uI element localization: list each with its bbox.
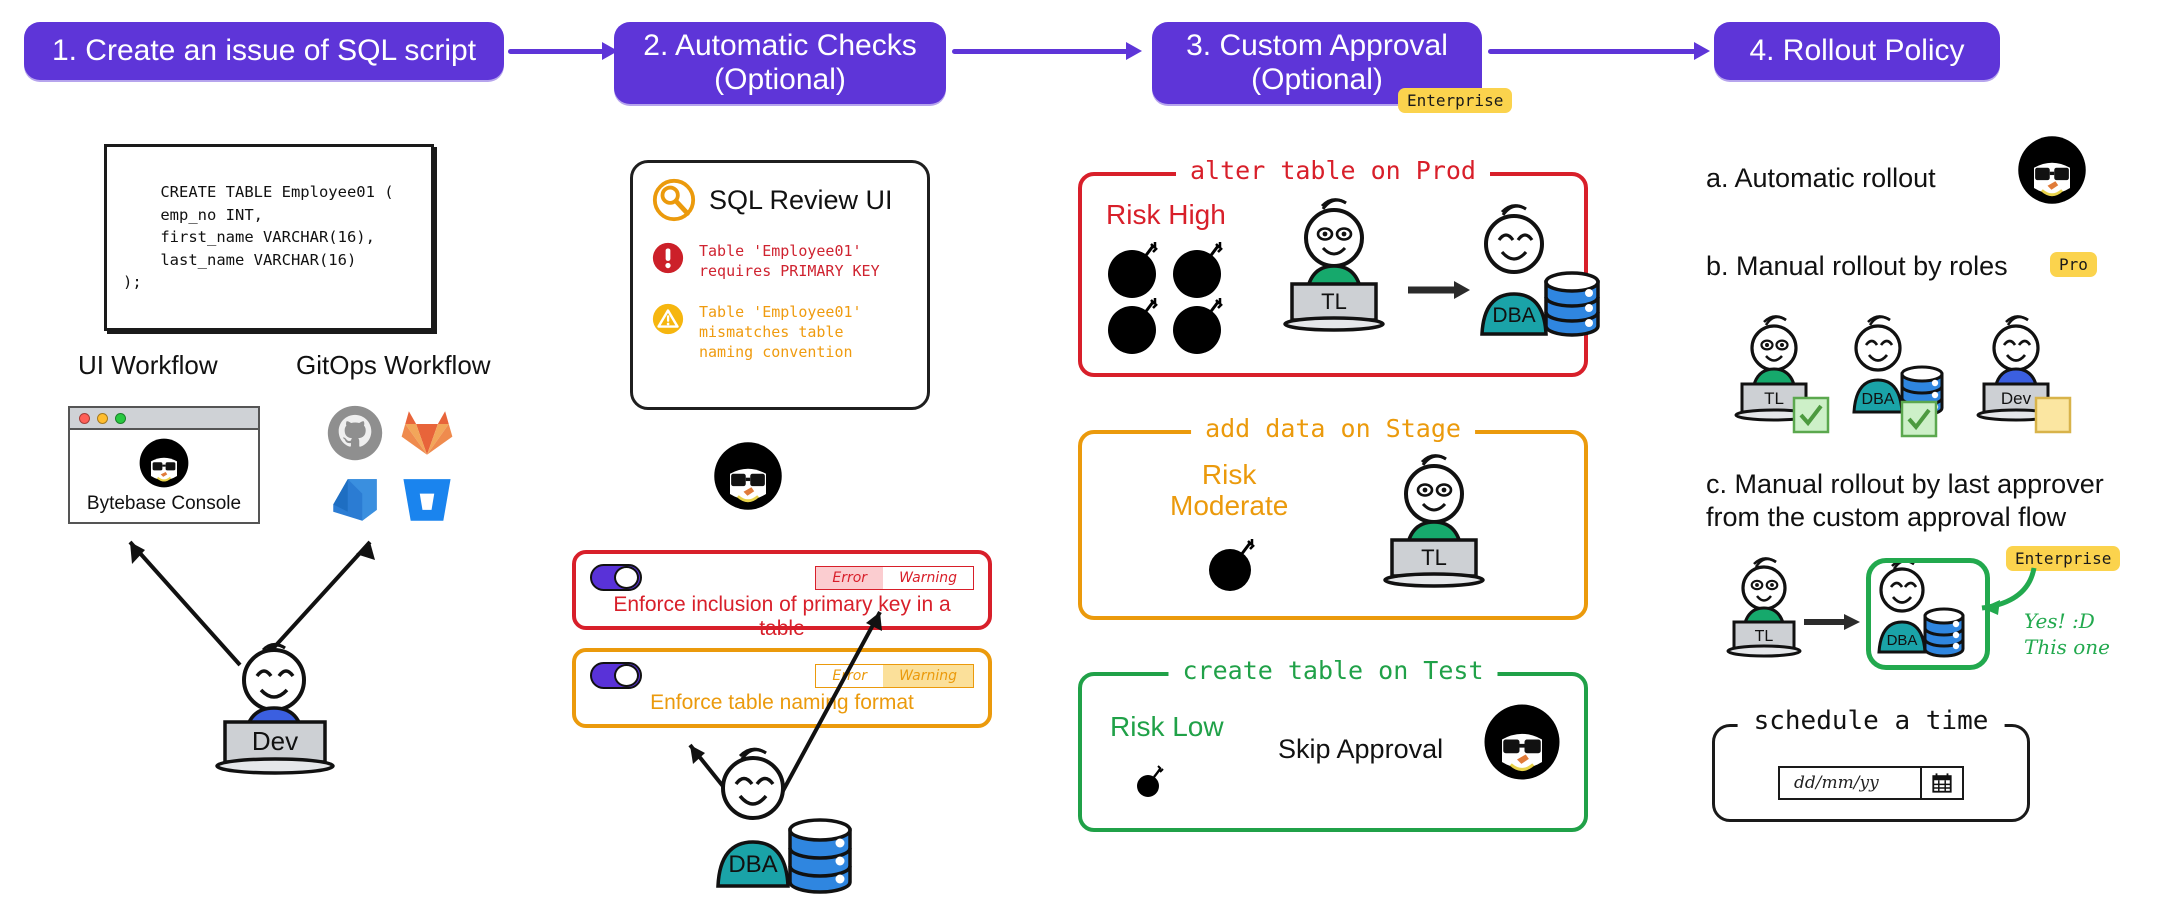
step-3-label-line1: 3. Custom Approval <box>1186 29 1448 64</box>
role-dev: Dev <box>1978 316 2070 432</box>
severity-option-error[interactable]: Error <box>816 567 883 589</box>
flow-role-tl: TL <box>1728 558 1800 656</box>
rollout-option-c: c. Manual rollout by last approver from … <box>1706 468 2104 534</box>
bytebase-avatar-icon <box>1482 702 1562 782</box>
person-dba-figure: DBA <box>700 740 880 910</box>
rule-card-controls: Error Warning <box>590 564 974 591</box>
github-icon[interactable] <box>326 404 384 462</box>
gitops-workflow-text: GitOps Workflow <box>296 350 491 380</box>
svg-text:TL: TL <box>1764 389 1784 408</box>
step-3-label-line2: (Optional) <box>1251 63 1383 98</box>
step-3-badge-label: Enterprise <box>1407 91 1503 110</box>
azure-devops-icon[interactable] <box>326 470 384 528</box>
rule-toggle-table-naming[interactable] <box>590 662 642 689</box>
sql-review-magnifier-icon <box>651 177 697 223</box>
bytebase-avatar-col2 <box>712 440 784 512</box>
bytebase-avatar-col4 <box>2016 134 2088 206</box>
arrow-shaft <box>1488 49 1696 54</box>
arrow-step2-to-step3 <box>952 42 1142 60</box>
step-2-label-line2: (Optional) <box>714 63 846 98</box>
step-4-pill[interactable]: 4. Rollout Policy <box>1714 22 2000 80</box>
risk-label-prod: Risk High <box>1106 200 1226 231</box>
svg-text:TL: TL <box>1755 628 1774 645</box>
role-tl: TL <box>1736 316 1828 432</box>
step-2-pill[interactable]: 2. Automatic Checks (Optional) <box>614 22 946 104</box>
schedule-date-input[interactable]: dd/mm/yy <box>1778 766 1964 800</box>
approval-group-prod-title: alter table on Prod <box>1176 156 1490 185</box>
approver-tl-prod: TL <box>1278 194 1408 344</box>
window-titlebar <box>70 408 258 430</box>
window-body: Bytebase Console <box>70 430 258 522</box>
callout-note: Yes! :D This one <box>2024 608 2110 660</box>
review-message-error: Table 'Employee01' requires PRIMARY KEY <box>651 241 909 282</box>
bombs-high-icon <box>1102 244 1232 354</box>
sql-script-text: CREATE TABLE Employee01 ( emp_no INT, fi… <box>123 183 394 291</box>
approver-tl-stage: TL <box>1378 450 1508 600</box>
error-message-text: Table 'Employee01' requires PRIMARY KEY <box>699 241 880 282</box>
ui-workflow-label: UI Workflow <box>78 350 218 381</box>
flow-arrow-head <box>1844 614 1860 630</box>
approver-dba-prod: DBA <box>1468 200 1618 345</box>
bomb-low-icon <box>1134 764 1170 798</box>
arrow-shaft <box>508 49 604 54</box>
toggle-knob <box>614 664 639 687</box>
step-1-pill[interactable]: 1. Create an issue of SQL script <box>24 22 504 80</box>
risk-label-stage: Risk Moderate <box>1170 460 1288 522</box>
svg-text:Dev: Dev <box>2001 389 2032 408</box>
person-dev-figure: Dev <box>205 640 355 782</box>
console-caption: Bytebase Console <box>87 493 241 515</box>
toggle-knob <box>614 566 639 589</box>
arrow-head <box>1694 42 1710 60</box>
gitlab-icon[interactable] <box>398 404 456 462</box>
bytebase-avatar-icon <box>138 437 190 489</box>
person-dba-col2: DBA <box>700 740 880 910</box>
risk-label-line1: Risk <box>1170 460 1288 491</box>
role-dba: DBA <box>1854 316 1942 436</box>
arrow-shaft <box>952 49 1128 54</box>
bomb-moderate-icon <box>1206 538 1264 594</box>
svg-text:DBA: DBA <box>1862 391 1895 408</box>
severity-segmented-control-primary-key[interactable]: Error Warning <box>815 566 974 590</box>
rollout-option-b-pro-badge: Pro <box>2050 252 2097 277</box>
close-dot-icon[interactable] <box>79 413 90 424</box>
bytebase-avatar-icon <box>712 440 784 512</box>
calendar-icon <box>1931 772 1953 794</box>
step-3-enterprise-badge: Enterprise <box>1398 88 1512 113</box>
approval-group-test: create table on Test Risk Low Skip Appro… <box>1078 672 1588 832</box>
pro-badge-label: Pro <box>2059 255 2088 274</box>
pending-box-icon <box>2036 398 2070 432</box>
approval-arrow-tl-to-dba <box>1408 278 1472 302</box>
database-icon <box>790 820 850 892</box>
skip-approval-label: Skip Approval <box>1278 734 1443 765</box>
person-dev: Dev <box>205 640 355 782</box>
error-icon <box>651 241 685 275</box>
database-icon <box>1546 273 1598 335</box>
calendar-button[interactable] <box>1920 768 1962 798</box>
risk-label-test: Risk Low <box>1110 712 1224 743</box>
diagram-canvas: 1. Create an issue of SQL script 2. Auto… <box>0 0 2168 922</box>
review-message-warning: Table 'Employee01' mismatches table nami… <box>651 302 909 363</box>
rollout-option-c-line1: c. Manual rollout by last approver <box>1706 468 2104 501</box>
bytebase-avatar-icon <box>2016 134 2088 206</box>
gitops-workflow-label: GitOps Workflow <box>296 350 491 381</box>
warning-icon <box>651 302 685 336</box>
approval-group-prod: alter table on Prod Risk High <box>1078 172 1588 377</box>
person-dba-label: DBA <box>728 851 777 878</box>
bytebase-avatar-col3 <box>1482 702 1562 782</box>
maximize-dot-icon[interactable] <box>115 413 126 424</box>
sql-review-card: SQL Review UI Table 'Employee01' require… <box>630 160 930 410</box>
step-2-label-line1: 2. Automatic Checks <box>643 29 916 64</box>
approval-group-stage-title: add data on Stage <box>1191 414 1475 443</box>
minimize-dot-icon[interactable] <box>97 413 108 424</box>
approval-group-stage: add data on Stage Risk Moderate TL <box>1078 430 1588 620</box>
rule-toggle-primary-key[interactable] <box>590 564 642 591</box>
approval-group-test-title: create table on Test <box>1168 656 1497 685</box>
bytebase-console-window[interactable]: Bytebase Console <box>68 406 260 524</box>
sql-review-title: SQL Review UI <box>709 185 893 216</box>
last-approver-highlight-box <box>1866 558 1990 670</box>
arrow-step3-to-step4 <box>1488 42 1710 60</box>
schedule-panel-title: schedule a time <box>1738 706 2005 736</box>
rollout-option-b: b. Manual rollout by roles <box>1706 250 2008 283</box>
risk-label-line2: Moderate <box>1170 491 1288 522</box>
sql-script-card: CREATE TABLE Employee01 ( emp_no INT, fi… <box>104 144 434 331</box>
approver-role-label: DBA <box>1492 304 1535 327</box>
step-4-label: 4. Rollout Policy <box>1749 34 1964 69</box>
step-1-label: 1. Create an issue of SQL script <box>52 34 476 69</box>
arrow-head <box>1126 42 1142 60</box>
warning-message-text: Table 'Employee01' mismatches table nami… <box>699 302 862 363</box>
rollout-roles-row: TL DBA <box>1706 312 2146 452</box>
approver-role-label: TL <box>1421 545 1447 570</box>
rollout-option-a: a. Automatic rollout <box>1706 162 1936 195</box>
ui-workflow-text: UI Workflow <box>78 350 218 380</box>
bitbucket-icon[interactable] <box>398 470 456 528</box>
severity-option-warning[interactable]: Warning <box>883 567 973 589</box>
person-dev-label: Dev <box>252 726 298 756</box>
approver-role-label: TL <box>1321 289 1347 314</box>
sql-review-header: SQL Review UI <box>651 177 909 223</box>
schedule-date-value: dd/mm/yy <box>1780 773 1879 793</box>
rollout-option-c-line2: from the custom approval flow <box>1706 501 2104 534</box>
arrow-step1-to-step2 <box>508 42 618 60</box>
